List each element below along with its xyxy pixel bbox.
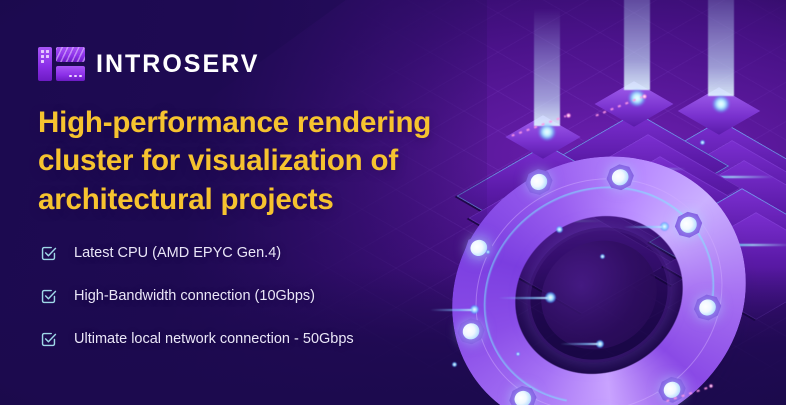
check-square-icon (40, 331, 57, 348)
brand-name: INTROSERV (96, 52, 259, 77)
list-item: High-Bandwidth connection (10Gbps) (40, 275, 470, 318)
server-rack-icon (38, 44, 85, 84)
list-item: Ultimate local network connection - 50Gb… (40, 318, 470, 361)
feature-list: Latest CPU (AMD EPYC Gen.4) High-Bandwid… (40, 232, 470, 361)
brand-logo[interactable]: INTROSERV (38, 44, 259, 84)
list-item-label: Latest CPU (AMD EPYC Gen.4) (74, 245, 281, 262)
list-item-label: Ultimate local network connection - 50Gb… (74, 331, 354, 348)
check-square-icon (40, 245, 57, 262)
promo-banner: INTROSERV High-performance rendering clu… (0, 0, 786, 405)
page-title: High-performance rendering cluster for v… (38, 104, 463, 219)
check-square-icon (40, 288, 57, 305)
list-item: Latest CPU (AMD EPYC Gen.4) (40, 232, 470, 275)
list-item-label: High-Bandwidth connection (10Gbps) (74, 288, 315, 305)
content-column: INTROSERV High-performance rendering clu… (0, 0, 470, 405)
